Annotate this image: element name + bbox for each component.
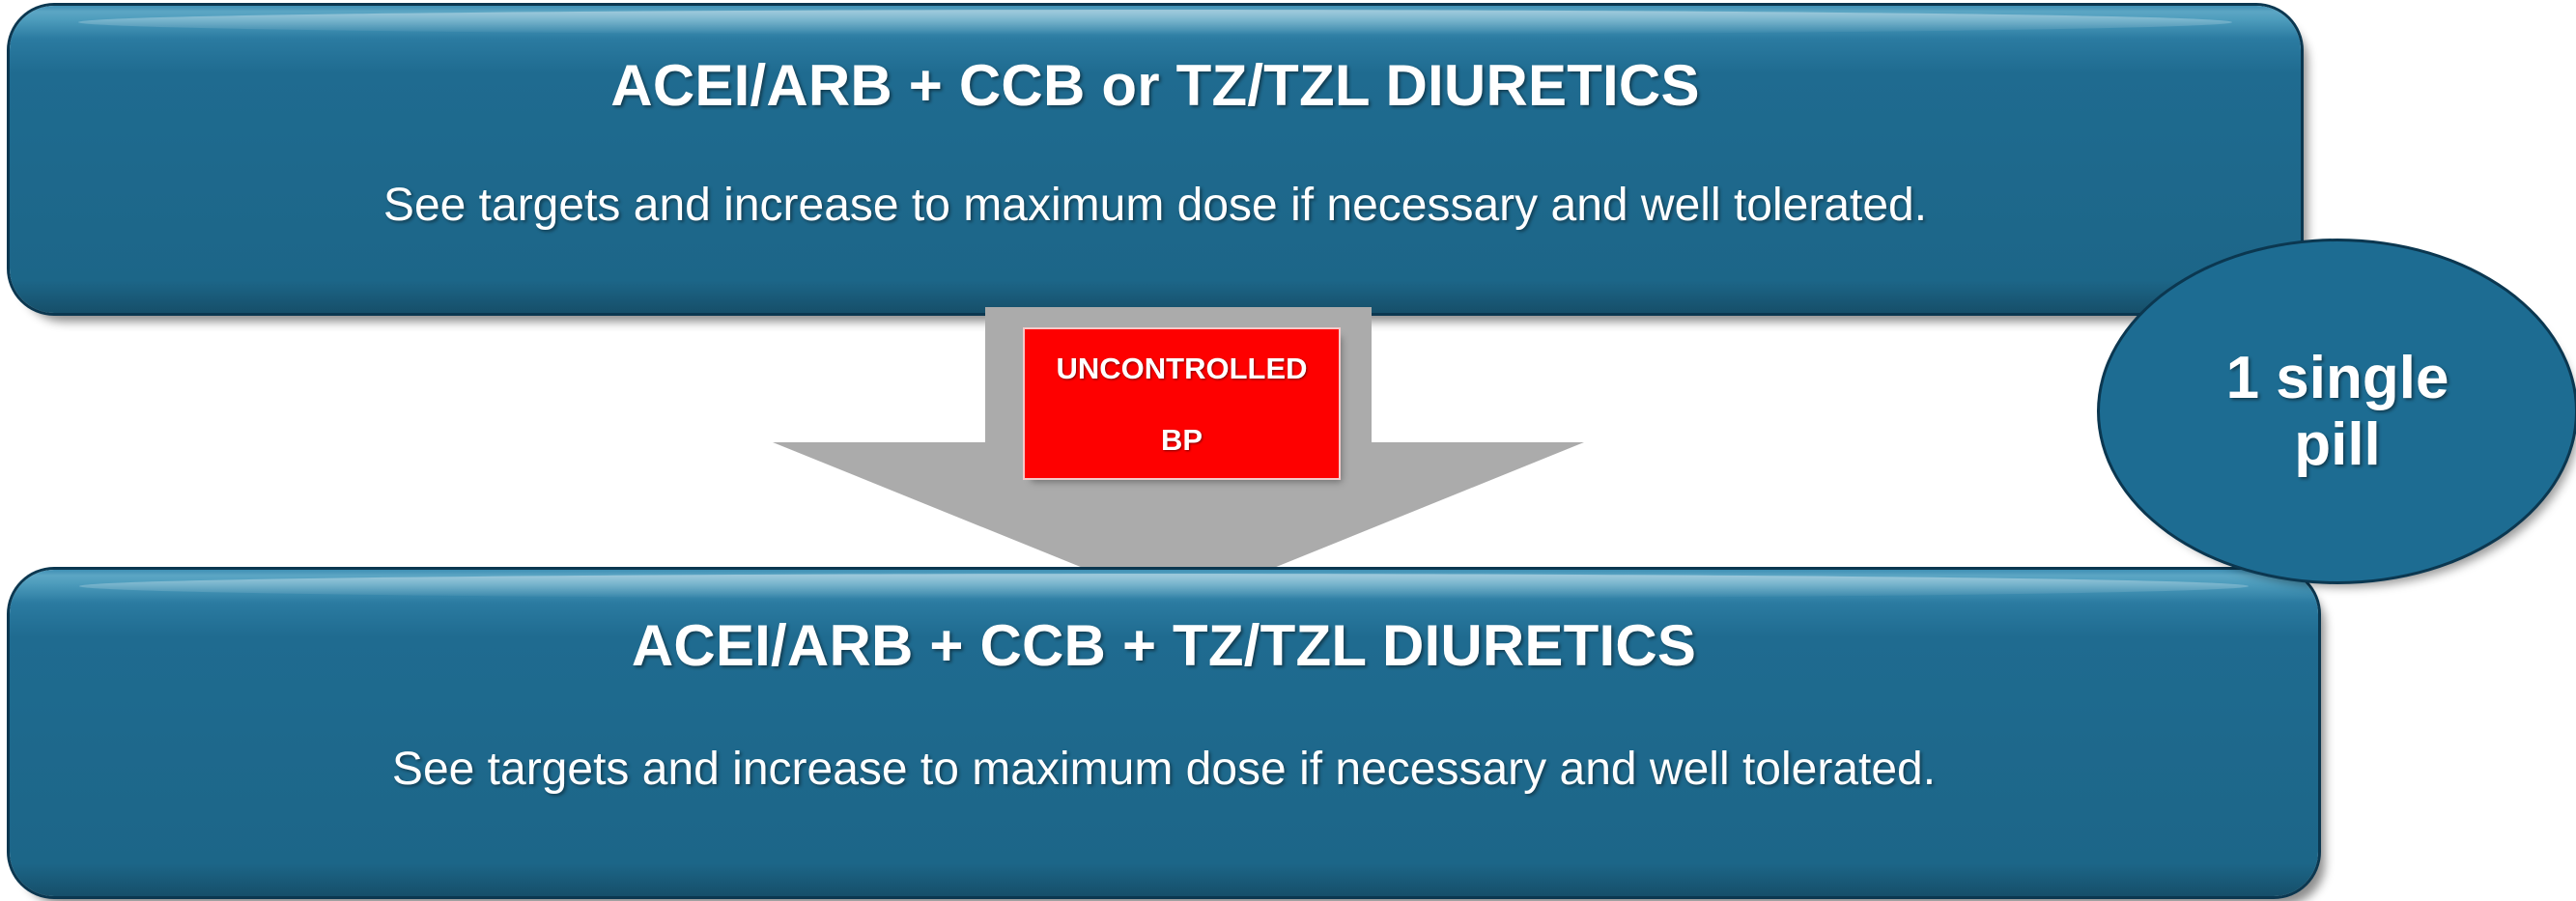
treatment-box-step-2-title: ACEI/ARB + CCB + TZ/TZL DIURETICS [632, 612, 1696, 679]
treatment-box-step-1-title: ACEI/ARB + CCB or TZ/TZL DIURETICS [610, 52, 1699, 119]
uncontrolled-bp-line-2: BP [1161, 424, 1203, 457]
uncontrolled-bp-badge: UNCONTROLLED BP [1025, 329, 1339, 478]
diagram-canvas: ACEI/ARB + CCB or TZ/TZL DIURETICS See t… [0, 0, 2576, 901]
single-pill-line-2: pill [2294, 411, 2381, 478]
treatment-box-step-1-content: ACEI/ARB + CCB or TZ/TZL DIURETICS See t… [10, 6, 2301, 313]
single-pill-line-1: 1 single [2226, 345, 2449, 411]
treatment-box-step-2-subtitle: See targets and increase to maximum dose… [392, 743, 1936, 796]
treatment-box-step-1[interactable]: ACEI/ARB + CCB or TZ/TZL DIURETICS See t… [10, 6, 2301, 313]
treatment-box-step-1-subtitle: See targets and increase to maximum dose… [383, 179, 1927, 232]
single-pill-callout-text: 1 single pill [2226, 345, 2449, 479]
uncontrolled-bp-line-1: UNCONTROLLED [1056, 352, 1307, 385]
treatment-box-step-2[interactable]: ACEI/ARB + CCB + TZ/TZL DIURETICS See ta… [10, 570, 2318, 896]
treatment-box-step-2-content: ACEI/ARB + CCB + TZ/TZL DIURETICS See ta… [10, 570, 2318, 896]
